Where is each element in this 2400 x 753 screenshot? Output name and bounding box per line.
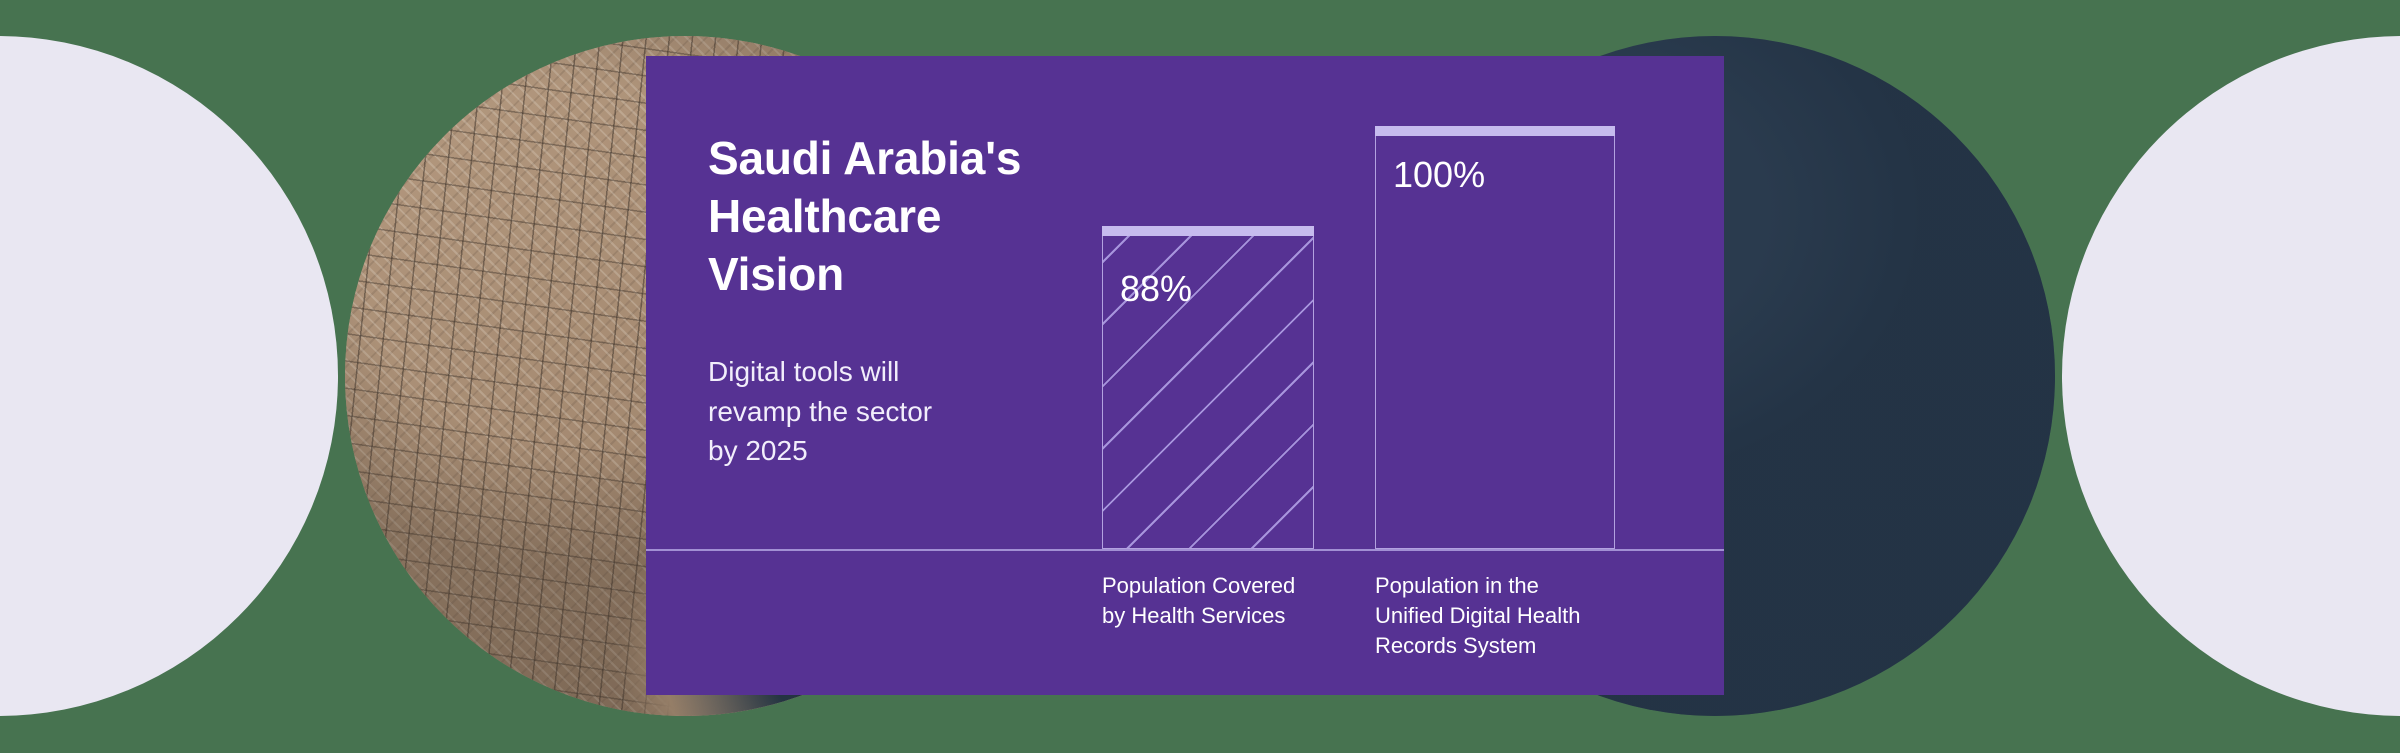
bar-category-label-1: Population Coveredby Health Services bbox=[1102, 571, 1342, 631]
bar-category-label-2-line-3: Records System bbox=[1375, 633, 1536, 658]
bar-category-label-1-line-1: Population Covered bbox=[1102, 573, 1295, 598]
bar-value-label: 88% bbox=[1120, 268, 1192, 310]
bar-cap bbox=[1375, 126, 1615, 136]
bar-population-covered[interactable]: 88% bbox=[1102, 226, 1314, 549]
bar-value-label: 100% bbox=[1393, 154, 1485, 196]
bar-unified-records[interactable]: 100% bbox=[1375, 126, 1615, 549]
decorative-circle-right bbox=[2062, 36, 2400, 716]
infographic-canvas: Saudi Arabia'sHealthcareVision Digital t… bbox=[0, 0, 2400, 753]
decorative-circle-left bbox=[0, 36, 338, 716]
bar-category-label-2-line-1: Population in the bbox=[1375, 573, 1539, 598]
bar-cap bbox=[1102, 226, 1314, 236]
bar-category-label-1-line-2: by Health Services bbox=[1102, 603, 1285, 628]
bar-chart: 88% 100% Population Coveredby Health Ser… bbox=[646, 56, 1724, 695]
content-panel: Saudi Arabia'sHealthcareVision Digital t… bbox=[646, 56, 1724, 695]
bar-category-label-2: Population in theUnified Digital HealthR… bbox=[1375, 571, 1645, 661]
bar-body-solid bbox=[1375, 136, 1615, 549]
chart-baseline-axis bbox=[646, 549, 1724, 551]
bar-category-label-2-line-2: Unified Digital Health bbox=[1375, 603, 1580, 628]
